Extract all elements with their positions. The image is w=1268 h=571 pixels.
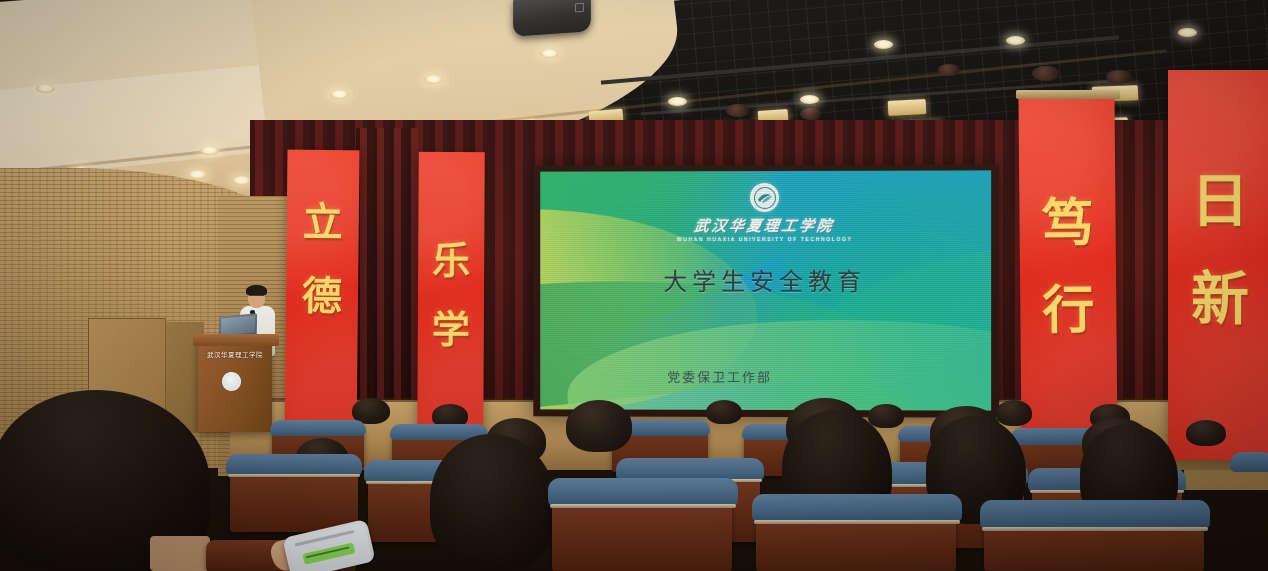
seat-cushion[interactable] (548, 478, 738, 506)
seat-cushion[interactable] (752, 494, 962, 522)
seat-cushion[interactable] (980, 500, 1210, 529)
downlight-icon (668, 97, 687, 106)
downlight-icon (1178, 28, 1197, 37)
university-logo: 武汉华夏理工学院 WUHAN HUAXIA UNIVERSITY OF TECH… (677, 183, 853, 243)
seat-cushion[interactable] (1230, 452, 1268, 472)
audience-head-foreground (430, 434, 556, 571)
banner-lide: 立 德 (284, 150, 359, 443)
downlight-icon (200, 146, 219, 155)
downlight-icon (330, 90, 349, 99)
ceiling-speaker-icon (513, 0, 591, 37)
auditorium-scene: 武汉华夏理工学院 WUHAN HUAXIA UNIVERSITY OF TECH… (0, 0, 1268, 571)
audience-head (566, 400, 632, 452)
downlight-icon (874, 40, 893, 49)
university-name-en: WUHAN HUAXIA UNIVERSITY OF TECHNOLOGY (677, 237, 853, 243)
banner-duxing: 笃 行 (1018, 95, 1117, 451)
podium-top (193, 334, 279, 346)
banner-char: 德 (302, 264, 343, 322)
par-can-light (1106, 70, 1132, 84)
audience-head (1186, 420, 1226, 446)
banner-char: 笃 (1041, 181, 1094, 256)
banner-char: 乐 (432, 230, 470, 285)
seat-cushion[interactable] (270, 420, 366, 436)
banner-char: 日 (1191, 154, 1249, 238)
banner-char: 行 (1042, 268, 1095, 343)
downlight-icon (800, 95, 819, 104)
stage-light-fixture (888, 99, 927, 116)
led-screen[interactable]: 武汉华夏理工学院 WUHAN HUAXIA UNIVERSITY OF TECH… (540, 170, 991, 410)
banner-lexue: 乐 学 (417, 152, 485, 442)
banner-rod (1016, 90, 1120, 99)
banner-char: 学 (432, 299, 470, 354)
university-name-cn: 武汉华夏理工学院 (693, 215, 836, 236)
podium-emblem-icon (222, 372, 241, 391)
banner-char: 立 (303, 190, 344, 248)
par-can-light (800, 108, 822, 120)
downlight-icon (188, 170, 207, 179)
downlight-icon (540, 49, 559, 58)
seat-trim (228, 474, 360, 477)
podium-label: 武汉华夏理工学院 (203, 349, 267, 359)
par-can-light (1032, 66, 1060, 81)
seat-trim (982, 527, 1208, 531)
downlight-icon (232, 176, 251, 185)
par-can-light (938, 64, 960, 76)
speaker-glasses-icon (249, 295, 264, 298)
downlight-icon (1006, 36, 1025, 45)
banner-char: 新 (1191, 252, 1249, 336)
audience-head (706, 400, 742, 424)
audience-neck (150, 536, 210, 571)
university-emblem-icon (750, 183, 779, 212)
downlight-icon (424, 75, 443, 84)
presentation-title: 大学生安全教育 (663, 262, 866, 297)
banner-rixin: 日 新 (1168, 70, 1268, 460)
audience-head (868, 404, 904, 428)
downlight-icon (36, 84, 55, 93)
seat-trim (550, 504, 736, 508)
par-can-light (726, 104, 750, 117)
seat-cushion[interactable] (226, 454, 362, 476)
stage-curtain-left-fold (356, 128, 418, 428)
audience-head (996, 400, 1032, 426)
seat-trim (754, 520, 960, 524)
presentation-subtitle: 党委保卫工作部 (667, 367, 772, 386)
led-screen-frame: 武汉华夏理工学院 WUHAN HUAXIA UNIVERSITY OF TECH… (533, 164, 999, 417)
